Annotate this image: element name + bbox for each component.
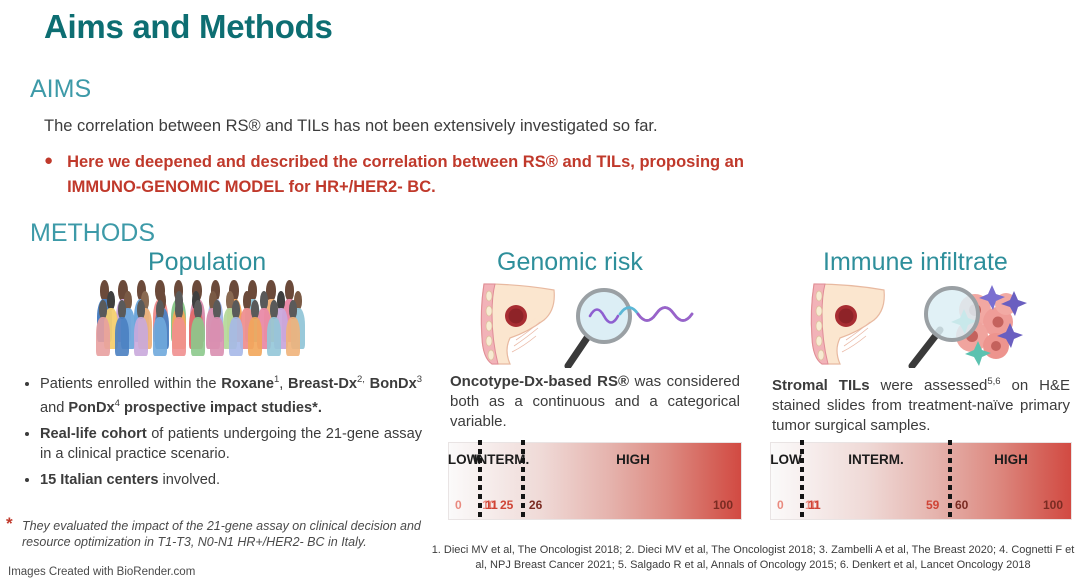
genomic-description: Oncotype-Dx-based RS® was considered bot… (450, 372, 740, 432)
crowd-person-body (191, 317, 205, 356)
immune-description: Stromal TILs were assessed5,6 on H&E sta… (772, 372, 1070, 436)
ref-sup: 3 (417, 374, 422, 385)
slide: Aims and Methods AIMS The correlation be… (0, 0, 1080, 585)
study-bondx: BonDx (370, 376, 417, 392)
crowd-person (286, 300, 300, 356)
breast-anatomy-icon (481, 284, 554, 364)
section-heading-aims: AIMS (30, 75, 91, 104)
crowd-person (172, 300, 186, 356)
crowd-person (115, 300, 129, 356)
biorender-credit: Images Created with BioRender.com (8, 566, 195, 578)
bullet-prefix: Patients enrolled within the (40, 376, 221, 392)
crowd-person-body (229, 317, 243, 356)
crowd-person (96, 300, 110, 356)
footnote-star: * (6, 514, 13, 534)
column-title-population: Population (148, 248, 266, 277)
references-list: 1. Dieci MV et al, The Oncologist 2018; … (430, 543, 1076, 573)
aims-bullet-text: Here we deepened and described the corre… (67, 150, 964, 200)
sep: , (279, 376, 288, 392)
study-breastdx: Breast-Dx (288, 376, 357, 392)
centers-label: 15 Italian centers (40, 472, 158, 488)
crowd-illustration (95, 278, 310, 370)
crowd-person (153, 300, 167, 356)
immune-infiltrate-scale: LOWINTERM.HIGH010115960100 (770, 442, 1072, 520)
crowd-person-body (267, 317, 281, 356)
immune-text-mid: were assessed (870, 377, 988, 394)
tick-label: 11 (485, 498, 498, 512)
band-label-low: LOW (770, 452, 802, 467)
aims-bullet: ● Here we deepened and described the cor… (44, 150, 964, 200)
footnote-text: They evaluated the impact of the 21-gene… (22, 518, 432, 550)
list-item: Patients enrolled within the Roxane1, Br… (40, 370, 422, 418)
list-item: 15 Italian centers involved. (40, 470, 422, 490)
population-bullets: Patients enrolled within the Roxane1, Br… (22, 370, 422, 496)
section-heading-methods: METHODS (30, 219, 155, 248)
bullet-suffix: prospective impact studies*. (120, 400, 322, 416)
tick-label: 11 (808, 498, 821, 512)
crowd-person (191, 300, 205, 356)
crowd-person (210, 300, 224, 356)
crowd-person-body (172, 317, 186, 356)
tick-label: 0 (777, 498, 784, 512)
crowd-person-body (96, 317, 110, 356)
genomic-text-bold: Oncotype-Dx-based RS® (450, 373, 629, 390)
crowd-person (229, 300, 243, 356)
crowd-person-body (134, 317, 148, 356)
band-divider (478, 440, 482, 520)
crowd-person (248, 300, 262, 356)
study-roxane: Roxane (221, 376, 274, 392)
column-title-immune: Immune infiltrate (823, 248, 1008, 277)
tick-label: 59 (926, 498, 939, 512)
bullet-rest: involved. (158, 472, 220, 488)
tick-label: 0 (455, 498, 462, 512)
band-divider (800, 440, 804, 520)
aims-lead-text: The correlation between RS® and TILs has… (44, 117, 944, 136)
bullet-dot-icon: ● (44, 150, 53, 200)
genomic-risk-illustration (470, 280, 705, 368)
aims-bullet-line1: Here we deepened and described the corre… (67, 153, 744, 171)
band-label-high: HIGH (616, 452, 650, 467)
study-pondx: PonDx (68, 400, 114, 416)
tick-label: 60 (955, 498, 968, 512)
band-divider (948, 440, 952, 520)
column-title-genomic: Genomic risk (497, 248, 643, 277)
footnote-line1: They evaluated the impact of the 21-gene… (22, 519, 421, 533)
band-label-high: HIGH (994, 452, 1028, 467)
tick-label: 100 (713, 498, 733, 512)
crowd-person (134, 300, 148, 356)
crowd-person-body (210, 317, 224, 356)
tick-label: 100 (1043, 498, 1063, 512)
crowd-person-body (248, 317, 262, 356)
ref-sup: 5,6 (987, 376, 1000, 387)
immune-text-bold: Stromal TILs (772, 377, 870, 394)
real-life-cohort-label: Real-life cohort (40, 426, 147, 442)
list-item: Real-life cohort of patients undergoing … (40, 424, 422, 464)
footnote-line2: resource optimization in T1-T3, N0-N1 HR… (22, 535, 367, 549)
band-label-interm: INTERM. (848, 452, 904, 467)
tick-label: 26 (529, 498, 542, 512)
breast-anatomy-icon (811, 284, 884, 364)
crowd-person-body (115, 317, 129, 356)
sep: and (40, 400, 68, 416)
crowd-person-body (153, 317, 167, 356)
band-divider (521, 440, 525, 520)
immune-infiltrate-illustration (800, 280, 1035, 368)
ref-sup: 2, (357, 374, 365, 385)
magnifier-icon (568, 290, 630, 366)
tick-label: 25 (500, 498, 513, 512)
genomic-risk-scale: LOWINTERM.HIGH010112526100 (448, 442, 742, 520)
aims-bullet-line2: IMMUNO-GENOMIC MODEL for HR+/HER2- BC. (67, 175, 964, 200)
page-title: Aims and Methods (44, 8, 333, 46)
crowd-person (267, 300, 281, 356)
crowd-person-body (286, 317, 300, 356)
